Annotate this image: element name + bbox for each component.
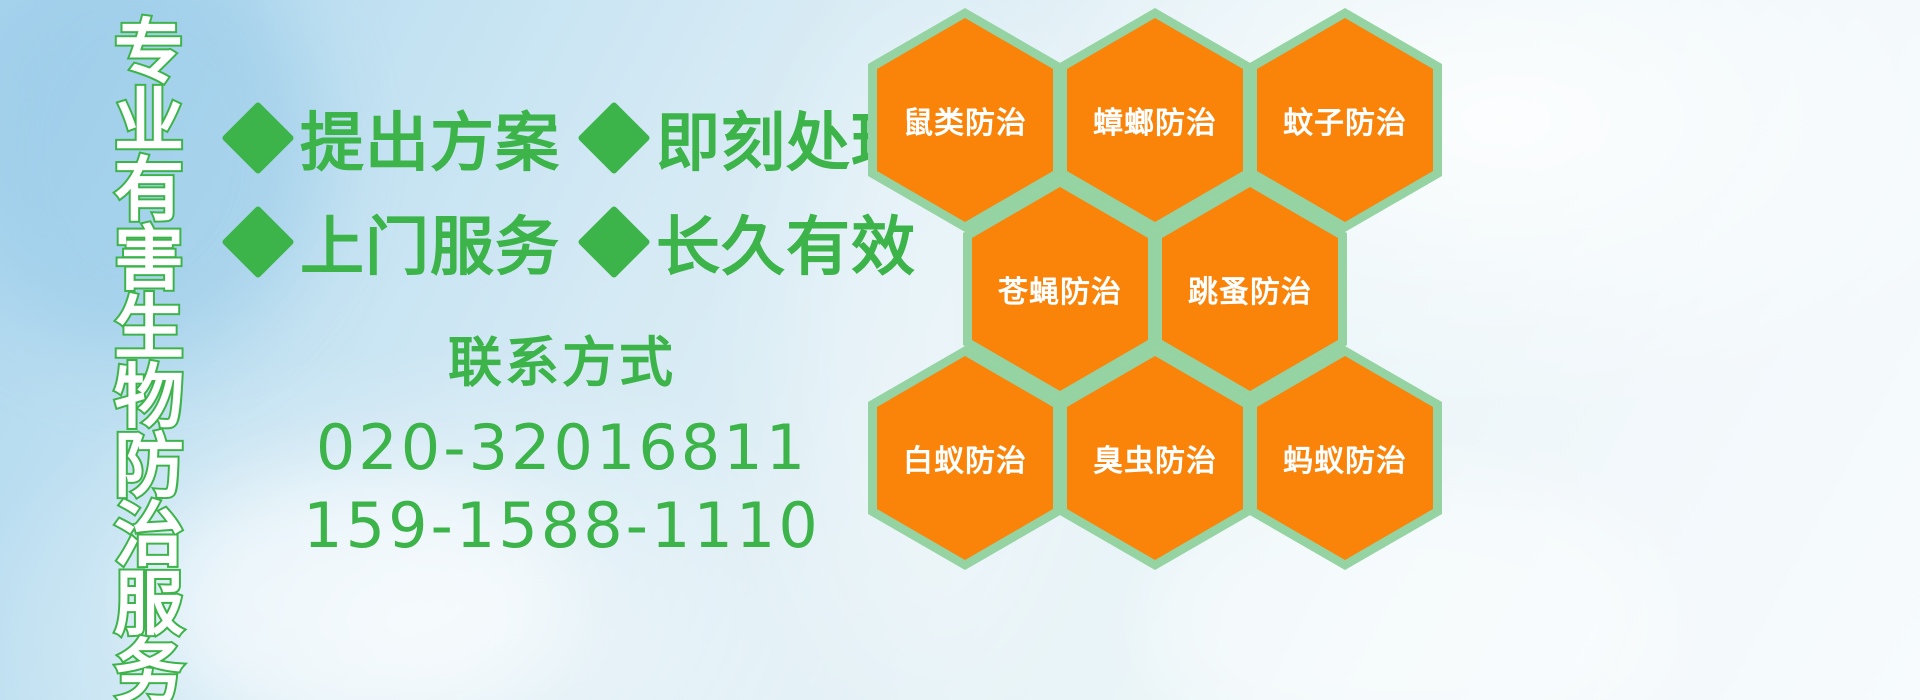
vertical-headline-char: 专 [114,18,184,87]
hex-inner: 苍蝇防治 [972,187,1148,391]
service-hex-label: 白蚁防治 [903,436,1027,480]
service-hex-label: 鼠类防治 [903,98,1027,142]
hex-inner: 跳蚤防治 [1162,187,1338,391]
service-hex-label: 蟑螂防治 [1093,98,1217,142]
service-hex-label: 蚂蚁防治 [1283,436,1407,480]
vertical-headline-char: 有 [114,156,184,225]
service-hex-label: 跳蚤防治 [1188,267,1312,311]
hex-inner: 臭虫防治 [1067,356,1243,560]
feature-list: 提出方案 即刻处理 上门服务 长久有效 [232,86,872,294]
service-hex-label: 苍蝇防治 [998,267,1122,311]
contact-title: 联系方式 [232,318,892,397]
feature-row: 上门服务 长久有效 [232,190,872,294]
vertical-headline-char: 防 [114,432,184,501]
pest-control-banner: 专 业 有 害 生 物 防 治 服 务 提出方案 即刻处理 上门服务 [0,0,1920,700]
feature-row: 提出方案 即刻处理 [232,86,872,190]
contact-phone-mobile[interactable]: 159-1588-1110 [232,487,892,565]
feature-label: 提出方案 [300,92,560,184]
hex-inner: 白蚁防治 [877,356,1053,560]
contact-block: 联系方式 020-32016811 159-1588-1110 [232,318,892,565]
hex-inner: 蚊子防治 [1257,18,1433,222]
hex-inner: 蟑螂防治 [1067,18,1243,222]
vertical-headline: 专 业 有 害 生 物 防 治 服 务 [106,18,192,700]
feature-label: 上门服务 [300,196,560,288]
vertical-headline-char: 服 [114,570,184,639]
service-hex-label: 臭虫防治 [1093,436,1217,480]
diamond-bullet-icon [221,205,295,279]
diamond-bullet-icon [221,101,295,175]
contact-phone-landline[interactable]: 020-32016811 [232,409,892,487]
service-hex-label: 蚊子防治 [1283,98,1407,142]
hex-inner: 蚂蚁防治 [1257,356,1433,560]
vertical-headline-char: 物 [114,363,184,432]
vertical-headline-char: 治 [114,501,184,570]
feature-item: 提出方案 [232,92,560,184]
vertical-headline-char: 害 [114,225,184,294]
feature-item: 上门服务 [232,196,560,288]
vertical-headline-char: 生 [114,294,184,363]
service-hex-grid: 鼠类防治 蟑螂防治 蚊子防治 苍蝇防治 跳蚤防治 白蚁防治 [862,0,1920,700]
vertical-headline-char: 务 [114,638,184,700]
diamond-bullet-icon [577,101,651,175]
diamond-bullet-icon [577,205,651,279]
vertical-headline-char: 业 [114,87,184,156]
hex-inner: 鼠类防治 [877,18,1053,222]
